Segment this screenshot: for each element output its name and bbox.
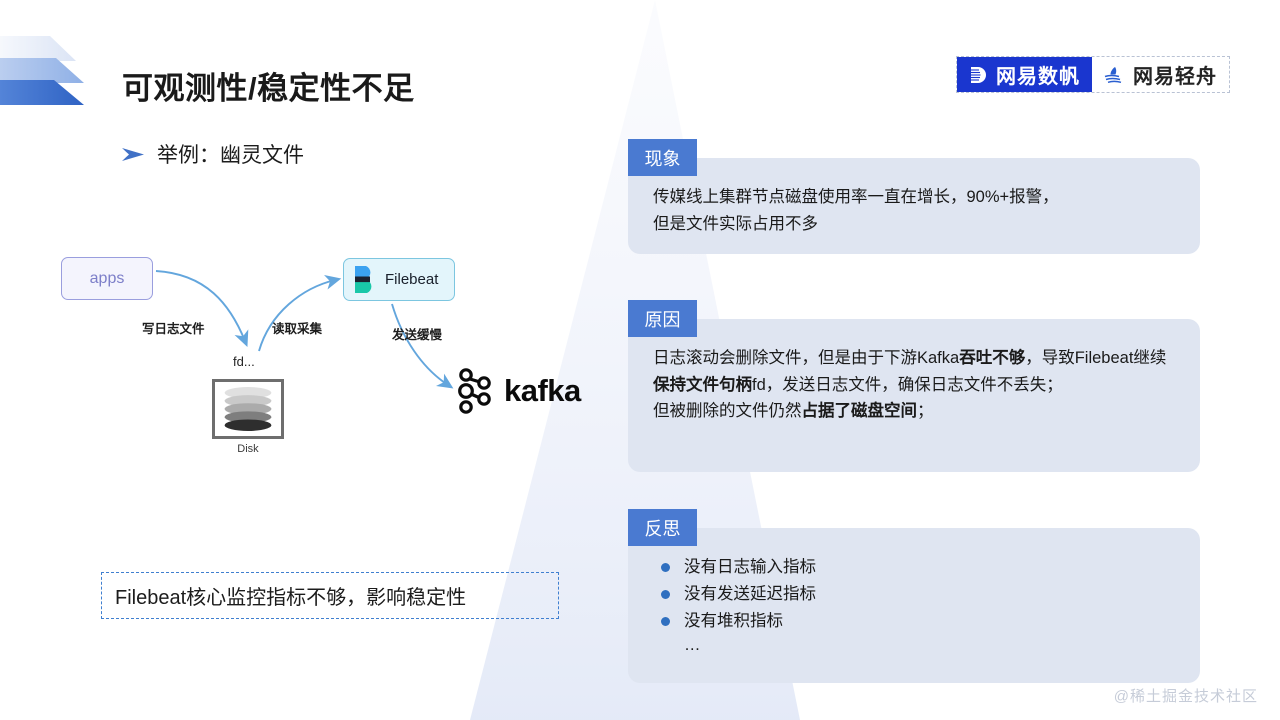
node-filebeat-label: Filebeat bbox=[385, 271, 438, 288]
bullet-dot-icon bbox=[661, 617, 670, 626]
panel-reflection-tag: 反思 bbox=[628, 509, 697, 546]
brand-logo-strip: 网易数帆 网易轻舟 bbox=[956, 56, 1230, 93]
kafka-logo-icon bbox=[455, 368, 495, 414]
edge-label-slow: 发送缓慢 bbox=[392, 324, 442, 343]
node-kafka-label: kafka bbox=[504, 373, 581, 409]
boat-wave-icon bbox=[1103, 65, 1126, 85]
summary-callout-text: Filebeat核心监控指标不够，影响稳定性 bbox=[115, 581, 466, 610]
node-apps-label: apps bbox=[90, 270, 125, 288]
logo-wangyi-shufan: 网易数帆 bbox=[957, 57, 1092, 92]
sailwheel-icon bbox=[967, 64, 989, 86]
page-title: 可观测性/稳定性不足 bbox=[122, 63, 415, 108]
bullet-dot-icon bbox=[661, 590, 670, 599]
panel-reflection-body: 没有日志输入指标没有发送延迟指标没有堆积指标 … bbox=[628, 528, 1200, 677]
subtitle-row: 举例：幽灵文件 bbox=[122, 139, 304, 169]
node-apps: apps bbox=[61, 257, 153, 300]
reflection-bullet-item: 没有堆积指标 bbox=[661, 608, 1178, 635]
node-kafka: kafka bbox=[455, 368, 581, 414]
reflection-bullet-label: 没有堆积指标 bbox=[684, 608, 783, 635]
panel-cause-tag: 原因 bbox=[628, 300, 697, 337]
filebeat-logo-icon bbox=[353, 265, 378, 294]
panel-cause: 日志滚动会删除文件，但是由于下游Kafka吞吐不够，导致Filebeat继续保持… bbox=[628, 319, 1200, 472]
panel-cause-body: 日志滚动会删除文件，但是由于下游Kafka吞吐不够，导致Filebeat继续保持… bbox=[628, 319, 1200, 445]
reflection-bullet-item: 没有发送延迟指标 bbox=[661, 581, 1178, 608]
panel-phenomenon-body: 传媒线上集群节点磁盘使用率一直在增长，90%+报警，但是文件实际占用不多 bbox=[628, 158, 1200, 257]
panel-phenomenon: 传媒线上集群节点磁盘使用率一直在增长，90%+报警，但是文件实际占用不多 bbox=[628, 158, 1200, 254]
summary-callout: Filebeat核心监控指标不够，影响稳定性 bbox=[101, 572, 559, 619]
reflection-bullet-list: 没有日志输入指标没有发送延迟指标没有堆积指标 bbox=[653, 548, 1178, 635]
reflection-bullet-label: 没有日志输入指标 bbox=[684, 554, 816, 581]
triangle-right-icon bbox=[122, 147, 144, 162]
watermark: @稀土掘金技术社区 bbox=[1114, 685, 1258, 706]
subtitle-text: 举例：幽灵文件 bbox=[157, 139, 304, 169]
edge-label-write: 写日志文件 bbox=[142, 318, 205, 337]
node-disk-label: Disk bbox=[212, 443, 284, 455]
node-fd-label: fd... bbox=[233, 354, 255, 369]
pipeline-diagram: apps Filebeat 写日志文件 读取采集 发送缓慢 fd... Disk bbox=[40, 238, 600, 478]
node-disk: Disk bbox=[212, 379, 284, 455]
panel-reflection: 没有日志输入指标没有发送延迟指标没有堆积指标 … bbox=[628, 528, 1200, 683]
logo-primary-text: 网易数帆 bbox=[996, 60, 1080, 89]
disk-stack-icon bbox=[212, 379, 284, 439]
reflection-bullet-label: 没有发送延迟指标 bbox=[684, 581, 816, 608]
panel-phenomenon-tag: 现象 bbox=[628, 139, 697, 176]
logo-secondary-text: 网易轻舟 bbox=[1133, 60, 1217, 89]
edge-label-read: 读取采集 bbox=[272, 318, 322, 337]
reflection-bullet-item: 没有日志输入指标 bbox=[661, 554, 1178, 581]
logo-wangyi-qingzhou: 网易轻舟 bbox=[1092, 57, 1229, 92]
bullet-dot-icon bbox=[661, 563, 670, 572]
corner-chevron-decoration bbox=[0, 8, 124, 128]
slide-root: 可观测性/稳定性不足 举例：幽灵文件 网易数帆 bbox=[0, 0, 1280, 720]
node-filebeat: Filebeat bbox=[343, 258, 455, 301]
reflection-ellipsis: … bbox=[653, 635, 1178, 656]
